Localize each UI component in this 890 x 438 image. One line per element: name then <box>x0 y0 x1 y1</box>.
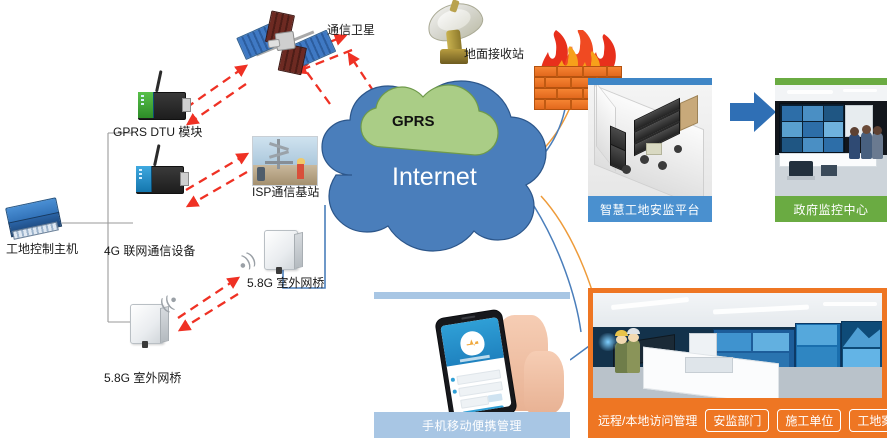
mobile-caption: 手机移动便携管理 <box>374 412 570 438</box>
internet-cloud-label: Internet <box>392 163 477 192</box>
gprs-cloud-label: GPRS <box>392 113 435 130</box>
control-host-label: 工地控制主机 <box>6 243 78 256</box>
isp-base-label: ISP通信基站 <box>252 186 319 199</box>
bridge-site-label: 5.8G 室外网桥 <box>104 372 181 385</box>
ground-station-label: 地面接收站 <box>464 48 524 61</box>
wifi-wave-icon: ((• <box>236 251 259 274</box>
access-bar-title: 远程/本地访问管理 <box>598 412 697 429</box>
access-chip-site[interactable]: 工地案场 <box>849 409 890 432</box>
host-branch-lines <box>62 133 133 322</box>
satellite-icon <box>235 0 334 86</box>
bridge-remote-icon <box>258 228 304 274</box>
gov-room-photo <box>775 85 887 196</box>
access-bar: 远程/本地访问管理 安监部门 施工单位 工地案场 <box>588 402 887 438</box>
lte-device-icon <box>128 160 190 194</box>
data-center-illustration <box>588 85 712 196</box>
lte-device-label: 4G 联网通信设备 <box>104 245 195 258</box>
gov-center-caption: 政府监控中心 <box>775 196 887 222</box>
mobile-card-topbar <box>374 292 570 299</box>
gov-card-topbar <box>775 78 887 85</box>
hand-holding-phone-icon <box>374 299 570 412</box>
network-topology-diagram: 工地控制主机 GPRS DTU 模块 4G 联网通信设备 ((• 5.8G 室外… <box>0 0 890 438</box>
control-host-icon <box>5 197 65 241</box>
gov-center-card[interactable]: 政府监控中心 <box>775 78 887 222</box>
control-room-photo <box>593 293 882 398</box>
platform-card-topbar <box>588 78 712 85</box>
access-chip-supervision[interactable]: 安监部门 <box>705 409 769 432</box>
platform-card[interactable]: 智慧工地安监平台 <box>588 78 712 222</box>
satellite-label: 通信卫星 <box>327 24 375 37</box>
bridge-remote-label: 5.8G 室外网桥 <box>247 277 324 290</box>
mobile-card[interactable]: 手机移动便携管理 <box>374 292 570 438</box>
gprs-dtu-icon <box>130 86 192 120</box>
gprs-dtu-label: GPRS DTU 模块 <box>113 126 202 139</box>
platform-caption: 智慧工地安监平台 <box>588 196 712 222</box>
isp-base-icon <box>252 136 318 186</box>
flow-right-arrow-icon <box>730 92 776 132</box>
access-chip-contractor[interactable]: 施工单位 <box>777 409 841 432</box>
control-room-card[interactable]: 远程/本地访问管理 安监部门 施工单位 工地案场 <box>588 288 887 438</box>
